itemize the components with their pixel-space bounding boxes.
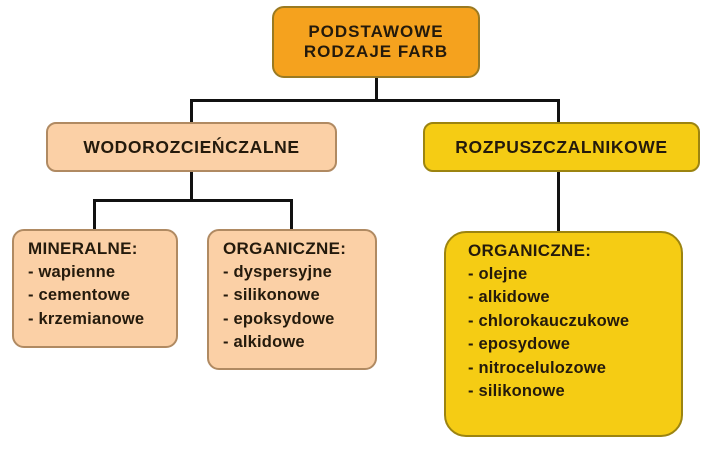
list-item: - epoksydowe — [223, 308, 365, 331]
node-organiczne-wodne-heading: ORGANICZNE: — [223, 239, 365, 259]
connector-root-to-left — [190, 99, 193, 124]
list-item: - chlorokauczukowe — [468, 310, 671, 333]
node-rozpuszczalnikowe-label: ROZPUSZCZALNIKOWE — [425, 137, 698, 158]
list-item: - cementowe — [28, 284, 166, 307]
list-item: - silikonowe — [468, 380, 671, 403]
diagram-canvas: PODSTAWOWE RODZAJE FARB WODOROZCIEŃCZALN… — [0, 0, 720, 450]
node-organiczne-rozpuszczalnikowe-heading: ORGANICZNE: — [468, 241, 671, 261]
list-item: - silikonowe — [223, 284, 365, 307]
connector-right-stem — [557, 172, 560, 232]
node-mineralne-heading: MINERALNE: — [28, 239, 166, 259]
list-item: - eposydowe — [468, 333, 671, 356]
list-item: - krzemianowe — [28, 308, 166, 331]
node-root-line1: PODSTAWOWE — [274, 22, 478, 42]
node-organiczne-wodne[interactable]: ORGANICZNE: - dyspersyjne - silikonowe -… — [207, 229, 377, 370]
connector-root-to-right — [557, 99, 560, 124]
connector-left-to-organiczne — [290, 199, 293, 230]
list-item: - wapienne — [28, 261, 166, 284]
node-root[interactable]: PODSTAWOWE RODZAJE FARB — [272, 6, 480, 78]
node-root-line2: RODZAJE FARB — [274, 42, 478, 62]
connector-left-stem — [190, 172, 193, 202]
connector-root-bar — [190, 99, 560, 102]
node-rozpuszczalnikowe[interactable]: ROZPUSZCZALNIKOWE — [423, 122, 700, 172]
list-item: - nitrocelulozowe — [468, 357, 671, 380]
list-item: - alkidowe — [468, 286, 671, 309]
list-item: - olejne — [468, 263, 671, 286]
node-mineralne[interactable]: MINERALNE: - wapienne - cementowe - krze… — [12, 229, 178, 348]
node-wodorozcienczalne[interactable]: WODOROZCIEŃCZALNE — [46, 122, 337, 172]
list-item: - dyspersyjne — [223, 261, 365, 284]
node-organiczne-rozpuszczalnikowe[interactable]: ORGANICZNE: - olejne - alkidowe - chloro… — [444, 231, 683, 437]
connector-left-bar — [93, 199, 293, 202]
connector-left-to-mineralne — [93, 199, 96, 230]
node-wodorozcienczalne-label: WODOROZCIEŃCZALNE — [48, 137, 335, 158]
list-item: - alkidowe — [223, 331, 365, 354]
